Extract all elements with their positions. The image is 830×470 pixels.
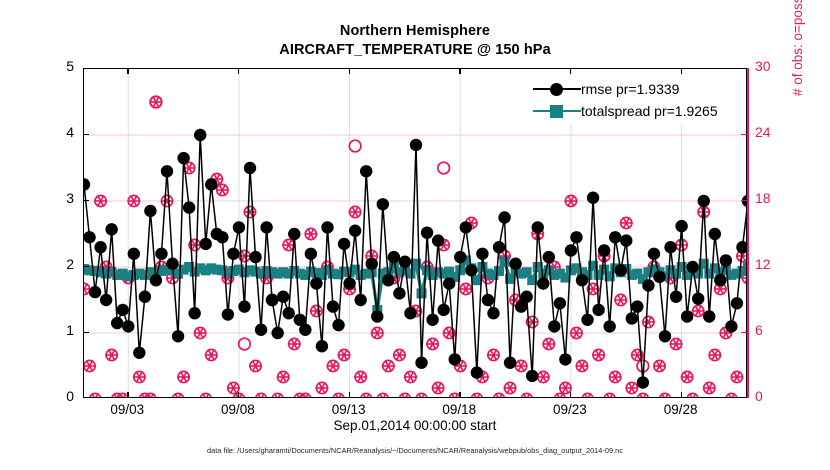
y-tick-right-6: 6 bbox=[755, 322, 789, 338]
x-tick-mark-top bbox=[238, 68, 239, 74]
x-tick-mark bbox=[570, 392, 571, 398]
x-tick-mark-top bbox=[459, 68, 460, 74]
y-tick-left-3: 3 bbox=[44, 190, 74, 206]
y-tick-left-0: 0 bbox=[44, 388, 74, 404]
chart-title-line2: AIRCRAFT_TEMPERATURE @ 150 hPa bbox=[0, 41, 830, 60]
x-axis-label: Sep.01,2014 00:00:00 start bbox=[0, 418, 830, 433]
legend-marker-circle-icon bbox=[533, 79, 581, 99]
y-tick-right-24: 24 bbox=[755, 124, 789, 140]
x-tick-09-18: 09/18 bbox=[424, 402, 494, 417]
y-tick-right-0: 0 bbox=[755, 388, 789, 404]
y-tick-left-4: 4 bbox=[44, 124, 74, 140]
chart-page: Northern Hemisphere AIRCRAFT_TEMPERATURE… bbox=[0, 0, 830, 470]
x-tick-mark bbox=[681, 392, 682, 398]
y-tick-mark-left bbox=[83, 332, 89, 333]
legend-label-totalspread: totalspread pr=1.9265 bbox=[581, 103, 718, 119]
x-tick-mark-top bbox=[681, 68, 682, 74]
x-tick-mark bbox=[459, 392, 460, 398]
y-tick-right-12: 12 bbox=[755, 256, 789, 272]
y-tick-mark-left bbox=[83, 266, 89, 267]
x-tick-mark-top bbox=[570, 68, 571, 74]
y-tick-left-2: 2 bbox=[44, 256, 74, 272]
x-tick-mark bbox=[127, 392, 128, 398]
chart-title-line1: Northern Hemisphere bbox=[0, 22, 830, 41]
x-tick-09-28: 09/28 bbox=[646, 402, 716, 417]
y-tick-right-18: 18 bbox=[755, 190, 789, 206]
y-tick-left-1: 1 bbox=[44, 322, 74, 338]
y-tick-mark-left bbox=[83, 134, 89, 135]
x-tick-mark bbox=[349, 392, 350, 398]
y-tick-mark-left bbox=[83, 200, 89, 201]
legend-item-rmse: rmse pr=1.9339 bbox=[533, 78, 718, 100]
y-axis-right-label: # of obs: o=possible; *=assimilated bbox=[790, 0, 805, 96]
x-tick-mark-top bbox=[349, 68, 350, 74]
x-tick-09-23: 09/23 bbox=[535, 402, 605, 417]
right-axis-spine bbox=[747, 68, 749, 398]
x-tick-09-08: 09/08 bbox=[203, 402, 273, 417]
data-file-footer: data file: /Users/gharamti/Documents/NCA… bbox=[0, 446, 830, 455]
chart-legend: rmse pr=1.9339 totalspread pr=1.9265 bbox=[529, 76, 724, 124]
legend-label-rmse: rmse pr=1.9339 bbox=[581, 81, 679, 97]
x-tick-09-13: 09/13 bbox=[314, 402, 384, 417]
legend-marker-square-icon bbox=[533, 101, 581, 121]
x-tick-mark-top bbox=[127, 68, 128, 74]
x-tick-09-03: 09/03 bbox=[92, 402, 162, 417]
chart-title-block: Northern Hemisphere AIRCRAFT_TEMPERATURE… bbox=[0, 22, 830, 60]
x-tick-mark bbox=[238, 392, 239, 398]
legend-item-totalspread: totalspread pr=1.9265 bbox=[533, 100, 718, 122]
y-tick-left-5: 5 bbox=[44, 58, 74, 74]
y-tick-right-30: 30 bbox=[755, 58, 789, 74]
